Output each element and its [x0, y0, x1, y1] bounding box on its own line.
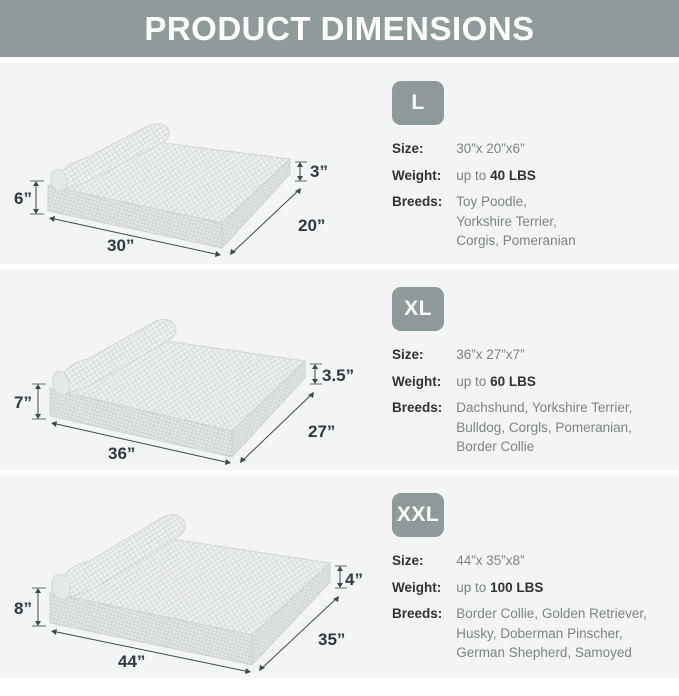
breed-line: German Shepherd, Samoyed: [456, 643, 647, 663]
breed-line: Dachshund, Yorkshire Terrier,: [456, 398, 632, 418]
bed-illustration-xxl: 8” 4” 44” 35”: [0, 475, 372, 678]
spec-label-breeds: Breeds:: [392, 604, 456, 670]
dim-height-right-xl: 3.5”: [322, 366, 354, 385]
dim-height-right-l: 3”: [310, 162, 328, 181]
spec-table-xxl: Size: 44”x 35”x8” Weight: up to 100 LBS …: [392, 551, 647, 670]
spec-row-breeds: Breeds: Dachshund, Yorkshire Terrier, Bu…: [392, 398, 632, 464]
breed-line: Border Collie: [456, 437, 632, 457]
spec-row-breeds: Breeds: Toy Poodle, Yorkshire Terrier, C…: [392, 192, 576, 258]
spec-panel-xxl: XXL Size: 44”x 35”x8” Weight: up to 100 …: [392, 493, 647, 696]
spec-value-size: 44”x 35”x8”: [456, 551, 647, 578]
spec-value-breeds: Toy Poodle, Yorkshire Terrier, Corgis, P…: [456, 192, 575, 258]
spec-row-weight: Weight: up to 40 LBS: [392, 166, 576, 193]
dim-height-left-xl: 7”: [14, 393, 32, 412]
dim-height-left-l: 6”: [14, 189, 32, 208]
spec-label-size: Size:: [392, 139, 456, 166]
spec-row-size: Size: 44”x 35”x8”: [392, 551, 647, 578]
spec-label-weight: Weight:: [392, 578, 456, 605]
product-dimensions-infographic: PRODUCT DIMENSIONS: [0, 0, 679, 678]
dim-depth-l: 20”: [298, 216, 325, 235]
spec-value-size: 36”x 27”x7”: [456, 345, 632, 372]
spec-row-size: Size: 30”x 20”x6”: [392, 139, 576, 166]
weight-value: 40 LBS: [490, 168, 536, 183]
weight-prefix: up to: [456, 374, 490, 389]
spec-label-size: Size:: [392, 345, 456, 372]
size-badge-l: L: [392, 81, 444, 125]
spec-panel-l: L Size: 30”x 20”x6” Weight: up to 40 LBS…: [392, 81, 576, 282]
breed-line: Husky, Doberman Pinscher,: [456, 624, 647, 644]
product-section-xl: 7” 3.5” 36” 27” XL Size:: [0, 269, 679, 470]
spec-row-weight: Weight: up to 100 LBS: [392, 578, 647, 605]
spec-value-weight: up to 100 LBS: [456, 578, 647, 605]
spec-value-breeds: Dachshund, Yorkshire Terrier, Bulldog, C…: [456, 398, 632, 464]
spec-row-breeds: Breeds: Border Collie, Golden Retriever,…: [392, 604, 647, 670]
spec-row-weight: Weight: up to 60 LBS: [392, 372, 632, 399]
dim-width-xxl: 44”: [118, 652, 145, 671]
spec-value-breeds: Border Collie, Golden Retriever, Husky, …: [456, 604, 647, 670]
spec-label-breeds: Breeds:: [392, 192, 456, 258]
dim-height-left-xxl: 8”: [14, 599, 32, 618]
product-section-l: 6” 3” 30” 20” L: [0, 63, 679, 264]
header-banner: PRODUCT DIMENSIONS: [0, 0, 679, 57]
weight-value: 60 LBS: [490, 374, 536, 389]
breed-line: Border Collie, Golden Retriever,: [456, 604, 647, 624]
size-badge-xl: XL: [392, 287, 444, 331]
size-badge-xxl: XXL: [392, 493, 444, 537]
weight-prefix: up to: [456, 168, 490, 183]
spec-label-size: Size:: [392, 551, 456, 578]
spec-value-weight: up to 60 LBS: [456, 372, 632, 399]
weight-value: 100 LBS: [490, 580, 543, 595]
spec-value-weight: up to 40 LBS: [456, 166, 575, 193]
breed-line: Yorkshire Terrier,: [456, 212, 575, 232]
breed-line: Corgis, Pomeranian: [456, 231, 575, 251]
spec-table-xl: Size: 36”x 27”x7” Weight: up to 60 LBS B…: [392, 345, 632, 464]
bed-illustration-l: 6” 3” 30” 20”: [0, 63, 372, 264]
weight-prefix: up to: [456, 580, 490, 595]
dim-width-xl: 36”: [108, 444, 135, 463]
spec-table-l: Size: 30”x 20”x6” Weight: up to 40 LBS B…: [392, 139, 576, 258]
page-title: PRODUCT DIMENSIONS: [144, 10, 534, 48]
dim-width-l: 30”: [107, 236, 134, 255]
spec-label-breeds: Breeds:: [392, 398, 456, 464]
spec-row-size: Size: 36”x 27”x7”: [392, 345, 632, 372]
dim-depth-xxl: 35”: [318, 630, 345, 649]
spec-panel-xl: XL Size: 36”x 27”x7” Weight: up to 60 LB…: [392, 287, 632, 488]
dim-depth-xl: 27”: [308, 422, 335, 441]
bed-illustration-xl: 7” 3.5” 36” 27”: [0, 269, 372, 470]
breed-line: Toy Poodle,: [456, 192, 575, 212]
spec-label-weight: Weight:: [392, 166, 456, 193]
dim-height-right-xxl: 4”: [345, 570, 363, 589]
breed-line: Bulldog, Corgls, Pomeranian,: [456, 418, 632, 438]
product-section-xxl: 8” 4” 44” 35” XXL Size:: [0, 475, 679, 678]
spec-label-weight: Weight:: [392, 372, 456, 399]
spec-value-size: 30”x 20”x6”: [456, 139, 575, 166]
